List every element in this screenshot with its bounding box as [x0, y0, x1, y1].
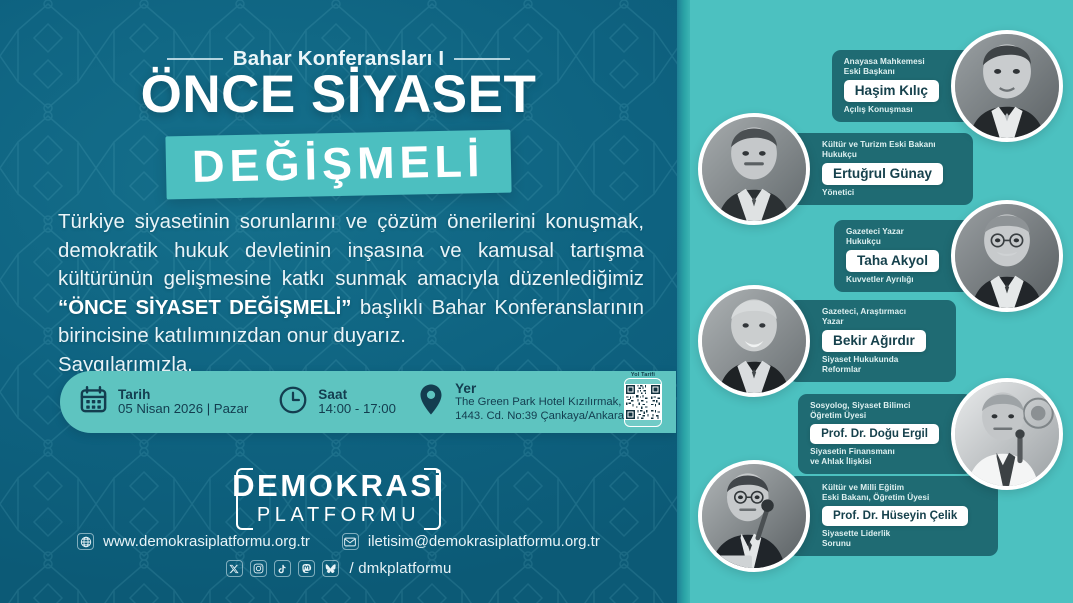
speaker-photo-5 [698, 460, 810, 572]
social-handle[interactable]: / dmkplatformu [350, 560, 452, 577]
title-highlight-bar: DEĞİŞMELİ [166, 130, 512, 200]
speaker-topic-2: Kuvvetler Ayrılığı [846, 275, 914, 285]
speaker-topic-5: Siyasette Liderlik Sorunu [822, 529, 890, 550]
contact-row: www.demokrasiplatformu.org.tr iletisim@d… [0, 533, 677, 550]
poster-title-line2-wrap: DEĞİŞMELİ [0, 133, 677, 196]
qr-code-icon [625, 384, 661, 420]
speaker-name-pill-5: Prof. Dr. Hüseyin Çelik [822, 506, 968, 525]
speaker-name-pill-3: Bekir Ağırdır [822, 330, 926, 352]
speaker-photo-0 [951, 30, 1063, 142]
speaker-name-pill-2: Taha Akyol [846, 250, 939, 272]
logo-text-bottom: PLATFORMU [232, 505, 445, 525]
info-venue: Yer The Green Park Hotel Kızılırmak, 144… [416, 381, 624, 424]
venue-label: Yer [455, 381, 624, 396]
instagram-icon[interactable] [250, 560, 267, 577]
speaker-name-4: Prof. Dr. Doğu Ergil [821, 427, 928, 440]
tiktok-icon[interactable] [274, 560, 291, 577]
poster-title-line1: ÖNCE SİYASET [0, 68, 677, 121]
email-text[interactable]: iletisim@demokrasiplatformu.org.tr [368, 533, 600, 550]
speaker-info-4: Sosyolog, Siyaset Bilimci Öğretim Üyesi … [798, 394, 973, 474]
calendar-icon [78, 384, 109, 420]
qr-caption: Yol Tarifi [628, 372, 658, 378]
envelope-icon [342, 533, 359, 550]
info-date: Tarih 05 Nisan 2026 | Pazar [78, 384, 248, 420]
speaker-role-0: Anayasa Mahkemesi Eski Başkanı [844, 57, 925, 78]
location-pin-icon [416, 383, 446, 421]
speaker-name-0: Haşim Kılıç [855, 83, 928, 99]
qr-code-box[interactable]: Yol Tarifi [624, 378, 662, 427]
speaker-name-pill-0: Haşim Kılıç [844, 80, 939, 102]
clock-icon [277, 384, 309, 421]
time-label: Saat [318, 387, 396, 402]
speaker-photo-2 [951, 200, 1063, 312]
speaker-photo-1 [698, 113, 810, 225]
bluesky-icon[interactable] [322, 560, 339, 577]
quoted-title: “ÖNCE SİYASET DEĞİŞMELİ” [58, 297, 352, 319]
speaker-name-2: Taha Akyol [857, 253, 928, 269]
speaker-role-3: Gazeteci, Araştırmacı Yazar [822, 307, 906, 328]
kicker-rule-left [167, 58, 223, 60]
logo-text-top: DEMOKRASİ [232, 470, 445, 501]
x-twitter-icon[interactable] [226, 560, 243, 577]
panel-divider [677, 0, 690, 603]
paragraph-part1: Türkiye siyasetinin sorunlarını ve çözüm… [58, 211, 644, 290]
speaker-name-pill-1: Ertuğrul Günay [822, 163, 943, 185]
organization-logo: DEMOKRASİ PLATFORMU [0, 466, 677, 531]
website-text[interactable]: www.demokrasiplatformu.org.tr [103, 533, 310, 550]
speaker-role-5: Kültür ve Milli Eğitim Eski Bakanı, Öğre… [822, 483, 929, 504]
speaker-photo-4 [951, 378, 1063, 490]
speaker-info-3: Gazeteci, Araştırmacı Yazar Bekir Ağırdı… [788, 300, 956, 383]
conference-poster: Bahar Konferansları I ÖNCE SİYASET DEĞİŞ… [0, 0, 1073, 603]
info-time: Saat 14:00 - 17:00 [277, 384, 396, 421]
date-value: 05 Nisan 2026 | Pazar [118, 402, 248, 417]
globe-icon [77, 533, 94, 550]
speaker-role-4: Sosyolog, Siyaset Bilimci Öğretim Üyesi [810, 401, 910, 422]
speaker-name-1: Ertuğrul Günay [833, 166, 932, 182]
speakers-panel: Anayasa Mahkemesi Eski Başkanı Haşim Kıl… [690, 0, 1073, 603]
logo-bracket-mark: DEMOKRASİ PLATFORMU [218, 466, 459, 531]
speaker-name-3: Bekir Ağırdır [833, 333, 915, 349]
event-info-bar: Tarih 05 Nisan 2026 | Pazar Saat 14:00 -… [60, 371, 676, 433]
social-row: / dmkplatformu [0, 560, 677, 577]
speaker-info-1: Kültür ve Turizm Eski Bakanı Hukukçu Ert… [788, 133, 973, 205]
speaker-topic-3: Siyaset Hukukunda Reformlar [822, 355, 898, 376]
date-label: Tarih [118, 387, 248, 402]
speaker-info-5: Kültür ve Milli Eğitim Eski Bakanı, Öğre… [788, 476, 998, 556]
speaker-photo-3 [698, 285, 810, 397]
speaker-name-5: Prof. Dr. Hüseyin Çelik [833, 509, 957, 522]
speaker-name-pill-4: Prof. Dr. Doğu Ergil [810, 424, 939, 443]
speaker-topic-0: Açılış Konuşması [844, 105, 913, 115]
speaker-role-1: Kültür ve Turizm Eski Bakanı Hukukçu [822, 140, 936, 161]
time-value: 14:00 - 17:00 [318, 402, 396, 417]
venue-line2: 1443. Cd. No:39 Çankaya/Ankara [455, 410, 624, 424]
speaker-role-2: Gazeteci Yazar Hukukçu [846, 227, 904, 248]
kicker-rule-right [454, 58, 510, 60]
mastodon-icon[interactable] [298, 560, 315, 577]
body-paragraph: Türkiye siyasetinin sorunlarını ve çözüm… [58, 208, 644, 379]
speaker-topic-1: Yönetici [822, 188, 854, 198]
left-panel: Bahar Konferansları I ÖNCE SİYASET DEĞİŞ… [0, 0, 677, 603]
venue-line1: The Green Park Hotel Kızılırmak, [455, 396, 624, 410]
poster-title-line2: DEĞİŞMELİ [192, 138, 485, 189]
speaker-topic-4: Siyasetin Finansmanı ve Ahlak İlişkisi [810, 447, 895, 468]
